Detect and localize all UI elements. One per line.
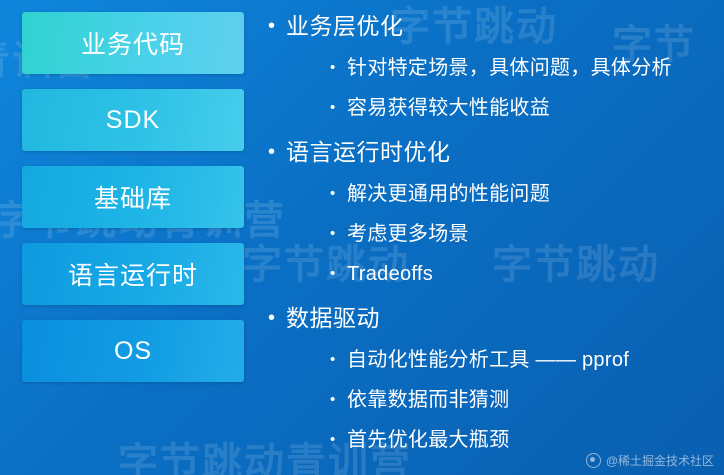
stack-layer-label: 业务代码	[81, 25, 185, 61]
bullet-text: 针对特定场景，具体问题，具体分析	[347, 48, 672, 88]
bullet-text: 语言运行时优化	[286, 132, 451, 172]
bullet-group-business-layer: • 业务层优化 • 针对特定场景，具体问题，具体分析 • 容易获得较大性能收益	[268, 6, 720, 128]
bullet-group-language-runtime: • 语言运行时优化 • 解决更通用的性能问题 • 考虑更多场景 • Tradeo…	[268, 132, 720, 294]
bullet-marker-icon: •	[268, 132, 286, 172]
bullet-item-level2: • Tradeoffs	[330, 254, 720, 294]
bullet-marker-icon: •	[330, 254, 347, 294]
bullet-text: 考虑更多场景	[347, 214, 469, 254]
bullet-item-level2: • 依靠数据而非猜测	[330, 380, 720, 420]
bullet-text: 容易获得较大性能收益	[347, 88, 550, 128]
stack-layer-language-runtime: 语言运行时	[22, 243, 244, 305]
bullet-text: 业务层优化	[286, 6, 404, 46]
bullet-sublist: • 针对特定场景，具体问题，具体分析 • 容易获得较大性能收益	[330, 48, 720, 128]
juejin-logo-icon	[586, 453, 601, 468]
software-stack-diagram: 业务代码 SDK 基础库 语言运行时 OS	[22, 12, 244, 397]
stack-layer-label: OS	[114, 337, 152, 366]
bullet-marker-icon: •	[268, 298, 286, 338]
bullet-marker-icon: •	[330, 420, 347, 460]
bullet-marker-icon: •	[268, 6, 286, 46]
stack-layer-label: 语言运行时	[68, 256, 198, 292]
bullet-marker-icon: •	[330, 48, 347, 88]
bullet-item-level1: • 数据驱动	[268, 298, 720, 338]
corner-watermark: @稀土掘金技术社区	[586, 452, 714, 469]
bullet-item-level2: • 考虑更多场景	[330, 214, 720, 254]
bullet-item-level1: • 业务层优化	[268, 6, 720, 46]
bullet-item-level2: • 针对特定场景，具体问题，具体分析	[330, 48, 720, 88]
bullet-text: 自动化性能分析工具 —— pprof	[347, 340, 629, 380]
bullet-item-level2: • 自动化性能分析工具 —— pprof	[330, 340, 720, 380]
stack-layer-sdk: SDK	[22, 89, 244, 151]
bullet-sublist: • 解决更通用的性能问题 • 考虑更多场景 • Tradeoffs	[330, 174, 720, 294]
stack-layer-label: 基础库	[94, 179, 172, 215]
bullet-item-level1: • 语言运行时优化	[268, 132, 720, 172]
bullet-list: • 业务层优化 • 针对特定场景，具体问题，具体分析 • 容易获得较大性能收益 …	[268, 6, 720, 464]
stack-layer-base-library: 基础库	[22, 166, 244, 228]
stack-layer-os: OS	[22, 320, 244, 382]
bullet-text: 依靠数据而非猜测	[347, 380, 509, 420]
bullet-text: 首先优化最大瓶颈	[347, 420, 509, 460]
stack-layer-label: SDK	[106, 106, 160, 135]
bullet-marker-icon: •	[330, 214, 347, 254]
bullet-marker-icon: •	[330, 380, 347, 420]
bullet-text: 解决更通用的性能问题	[347, 174, 550, 214]
corner-watermark-label: @稀土掘金技术社区	[606, 452, 714, 469]
bullet-group-data-driven: • 数据驱动 • 自动化性能分析工具 —— pprof • 依靠数据而非猜测 •…	[268, 298, 720, 460]
bullet-text: 数据驱动	[286, 298, 380, 338]
bullet-sublist: • 自动化性能分析工具 —— pprof • 依靠数据而非猜测 • 首先优化最大…	[330, 340, 720, 460]
stack-layer-business-code: 业务代码	[22, 12, 244, 74]
bullet-marker-icon: •	[330, 340, 347, 380]
bullet-marker-icon: •	[330, 88, 347, 128]
bullet-text: Tradeoffs	[347, 254, 433, 294]
slide-canvas: 字节跳动青训营 字节跳动 字节跳动 字节跳动青训营 字节跳动 字节 青训营 业务…	[0, 0, 724, 475]
bullet-item-level2: • 解决更通用的性能问题	[330, 174, 720, 214]
bullet-marker-icon: •	[330, 174, 347, 214]
bullet-item-level2: • 容易获得较大性能收益	[330, 88, 720, 128]
